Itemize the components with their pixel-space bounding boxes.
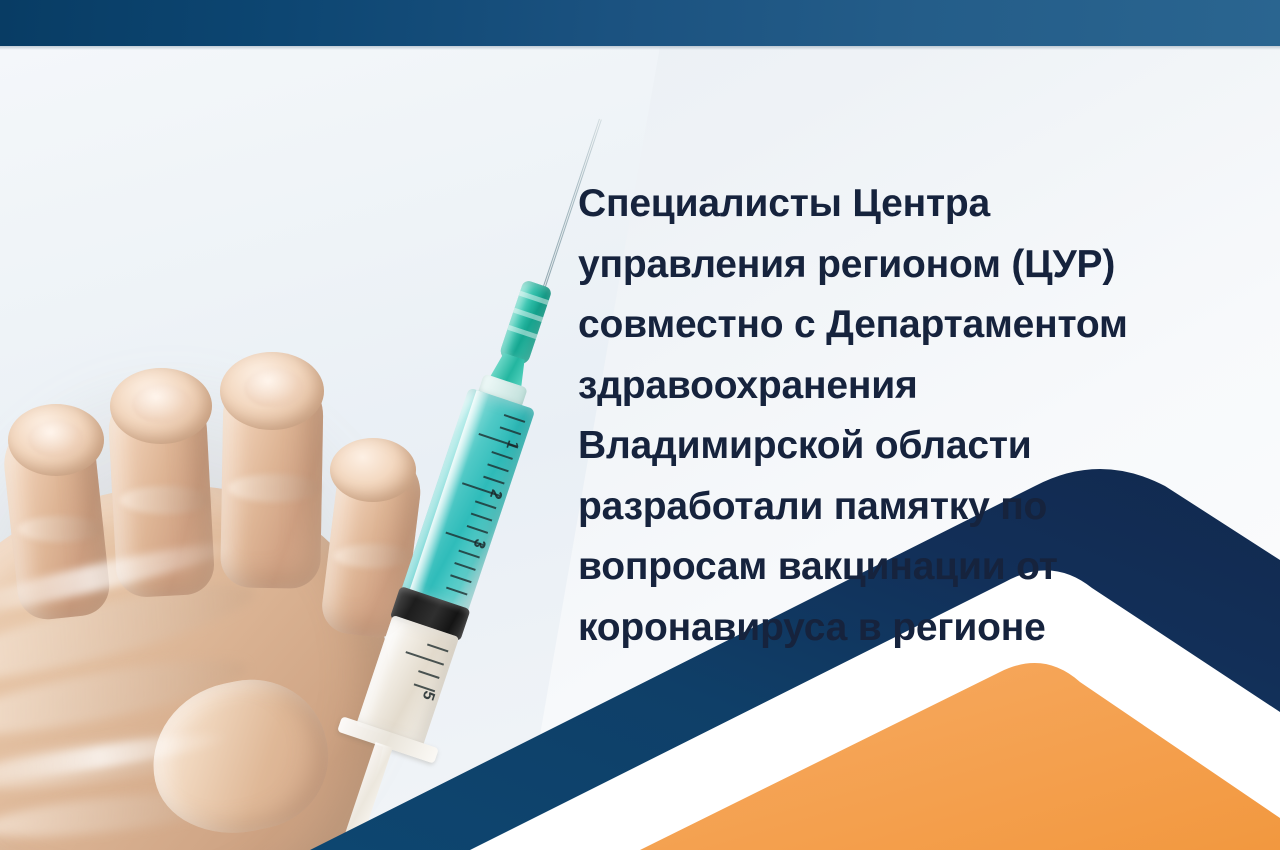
photo-backdrop: 1 2 3 5 [0, 46, 660, 850]
graduation-tick [450, 574, 471, 583]
graduation-tick [467, 525, 488, 534]
knuckle-crease [228, 474, 320, 502]
graduation-tick [504, 414, 525, 423]
top-accent-bar [0, 0, 1280, 46]
graduation-tick [483, 476, 504, 485]
graduation-tick [471, 513, 492, 522]
graduation-label-2: 2 [485, 487, 505, 501]
graduation-label-3: 3 [469, 536, 489, 550]
infographic-card: 1 2 3 5 Специалисты Центра управл [0, 0, 1280, 850]
fingernail [244, 368, 304, 408]
syringe-photo: 1 2 3 5 [0, 46, 660, 850]
top-bar-shadow [0, 46, 1280, 50]
graduation-tick [454, 562, 475, 571]
graduation-tick [475, 500, 496, 509]
graduation-tick [491, 451, 512, 460]
graduation-label-1: 1 [502, 438, 522, 452]
fingernail [28, 420, 84, 458]
graduation-tick [427, 644, 448, 653]
graduation-tick [458, 550, 479, 559]
headline-text: Специалисты Центра управления регионом (… [578, 174, 1218, 658]
knuckle-crease [120, 486, 210, 514]
barrel-gloss [408, 390, 490, 599]
graduation-tick [500, 426, 521, 435]
orange-rounded-card [640, 663, 1280, 850]
headline-block: Специалисты Центра управления регионом (… [578, 174, 1218, 658]
knuckle-crease [18, 516, 102, 542]
graduation-tick [487, 463, 508, 472]
graduation-tick [405, 651, 444, 666]
fingernail [132, 384, 192, 424]
blue-corner-fill [905, 660, 1280, 850]
syringe-barrel: 1 2 3 [400, 387, 535, 614]
graduation-tick [446, 587, 467, 596]
graduation-tick [418, 670, 439, 679]
